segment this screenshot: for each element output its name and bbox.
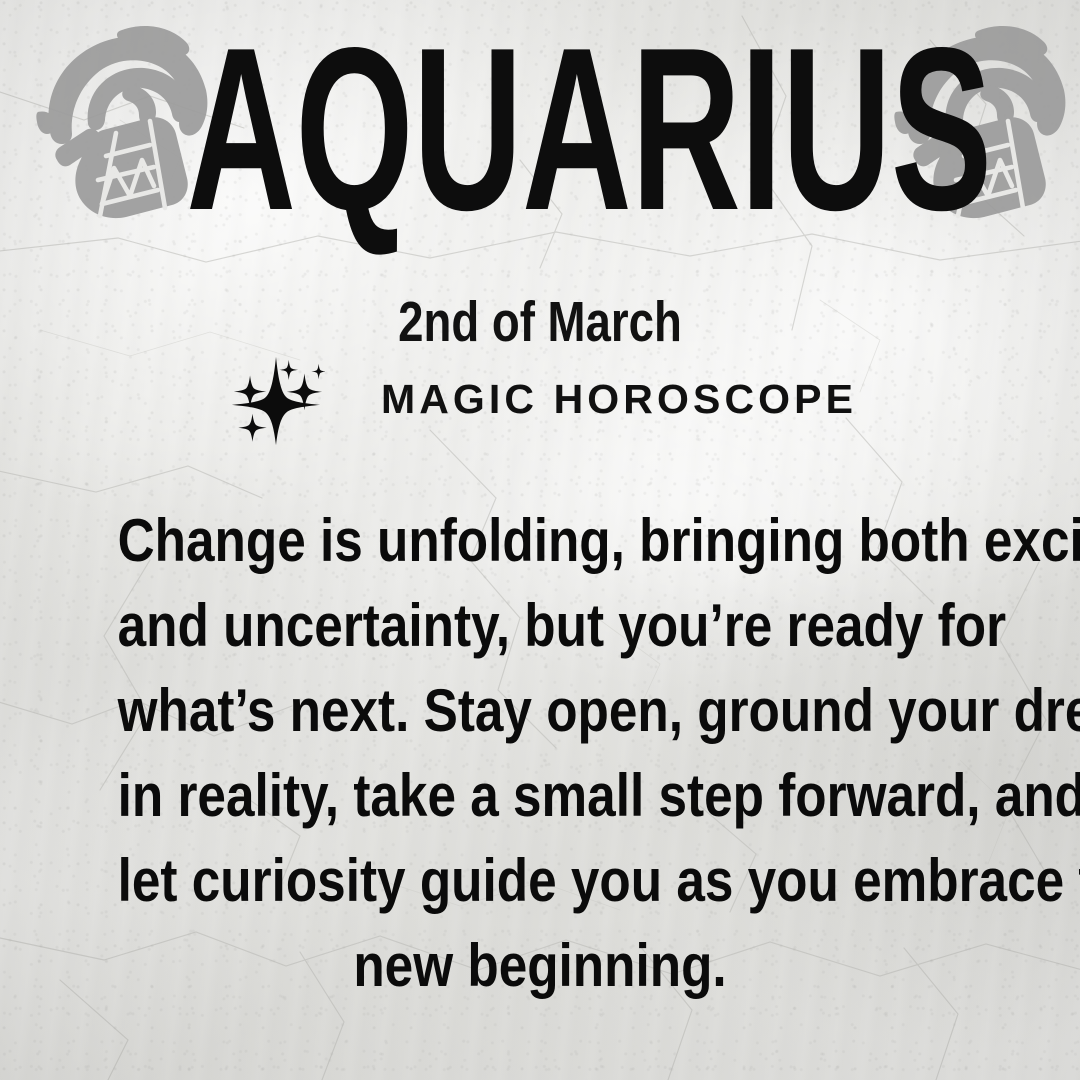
horoscope-line: in reality, take a small step forward, a… [118, 753, 963, 838]
horoscope-body-text: Change is unfolding, bringing both excit… [118, 498, 963, 1008]
horoscope-line: Change is unfolding, bringing both excit… [118, 498, 963, 583]
horoscope-line: what’s next. Stay open, ground your drea… [118, 668, 963, 753]
brand-wordmark: MAGIC HOROSCOPE [381, 376, 857, 423]
horoscope-date: 2nd of March [108, 294, 972, 351]
horoscope-line: let curiosity guide you as you embrace t… [118, 838, 963, 923]
horoscope-line: and uncertainty, but you’re ready for [118, 583, 963, 668]
sparkle-star-cluster-icon [227, 351, 325, 449]
brand-row: MAGIC HOROSCOPE [0, 366, 1080, 432]
horoscope-card: AQUARIUS 2nd of March MAGIC HOROSCOPE [0, 0, 1080, 1080]
horoscope-line: new beginning. [118, 923, 963, 1008]
zodiac-sign-title: AQUARIUS [186, 14, 893, 246]
